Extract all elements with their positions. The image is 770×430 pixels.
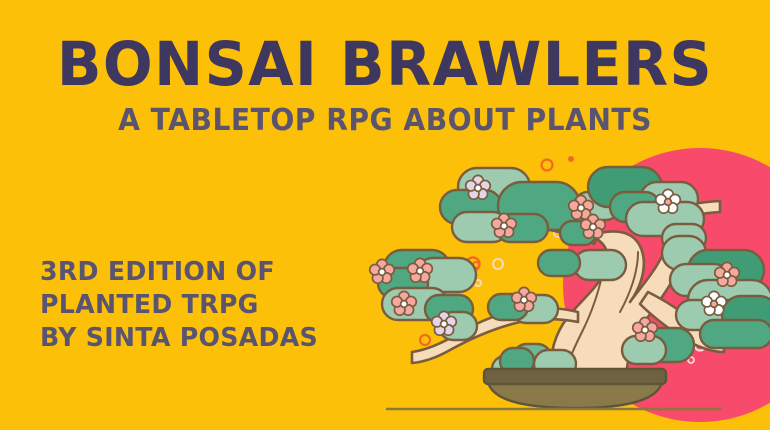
credits-block: 3RD EDITION OF PLANTED TRPG BY SINTA POS… xyxy=(40,256,327,355)
page-title: BONSAI BRAWLERS xyxy=(15,34,754,95)
credit-line-2: PLANTED TRPG xyxy=(40,289,318,322)
text-layer: BONSAI BRAWLERS A TABLETOP RPG ABOUT PLA… xyxy=(0,0,770,430)
poster-canvas: BONSAI BRAWLERS A TABLETOP RPG ABOUT PLA… xyxy=(0,0,770,430)
page-subtitle: A TABLETOP RPG ABOUT PLANTS xyxy=(23,106,747,136)
credit-line-3: BY SINTA POSADAS xyxy=(40,322,318,355)
credit-line-1: 3RD EDITION OF xyxy=(40,256,318,289)
